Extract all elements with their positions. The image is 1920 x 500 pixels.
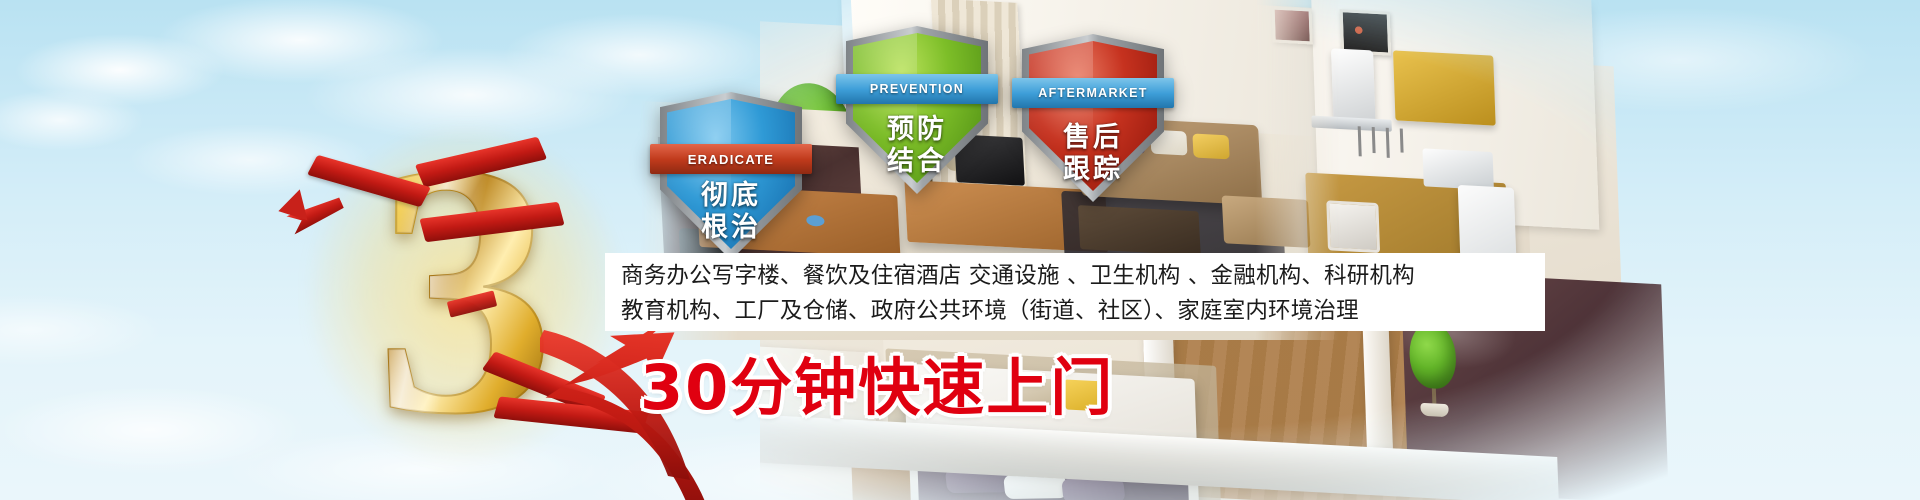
ottoman: [1222, 195, 1311, 247]
badge-shield-aftermarket: AFTERMARKET 售后 跟踪: [1022, 34, 1164, 202]
kitchen-sink: [1422, 148, 1493, 190]
shield-sash-label: ERADICATE: [650, 144, 812, 174]
shield-cn-line1: 彻底: [660, 180, 802, 211]
badge-shield-prevention: PREVENTION 预防 结合: [846, 26, 988, 194]
shield-sash-label: PREVENTION: [836, 74, 998, 104]
shield-cn-line2: 跟踪: [1022, 154, 1164, 185]
badge-shield-eradicate: ERADICATE 彻底 根治: [660, 92, 802, 260]
headline-slogan: 30分钟快速上门: [640, 352, 1114, 424]
service-scope-line-2: 教育机构、工厂及仓储、政府公共环境（街道、社区）、家庭室内环境治理: [621, 294, 1529, 329]
service-scope-line-1: 商务办公写字楼、餐饮及住宿酒店 交通设施 、卫生机构 、金融机构、科研机构: [621, 259, 1529, 294]
shield-cn-line2: 根治: [660, 212, 802, 243]
golden-three-graphic: 3 3: [300, 118, 630, 470]
hanging-utensils: [1352, 126, 1413, 163]
shield-cn-line1: 售后: [1022, 122, 1164, 153]
shield-cn-line1: 预防: [846, 114, 988, 145]
potted-plant: [1408, 321, 1457, 415]
shield-sash-label: AFTERMARKET: [1012, 78, 1174, 108]
coffee-table: [1078, 205, 1201, 255]
sofa-cushion: [1192, 133, 1229, 159]
kitchen-upper-cabinet: [1393, 50, 1496, 125]
service-scope-textbox: 商务办公写字楼、餐饮及住宿酒店 交通设施 、卫生机构 、金融机构、科研机构 教育…: [605, 253, 1545, 331]
shield-cn-line2: 结合: [846, 146, 988, 177]
promo-banner: 3 3 ERADICATE 彻底 根治 PREVENTION: [0, 0, 1920, 500]
